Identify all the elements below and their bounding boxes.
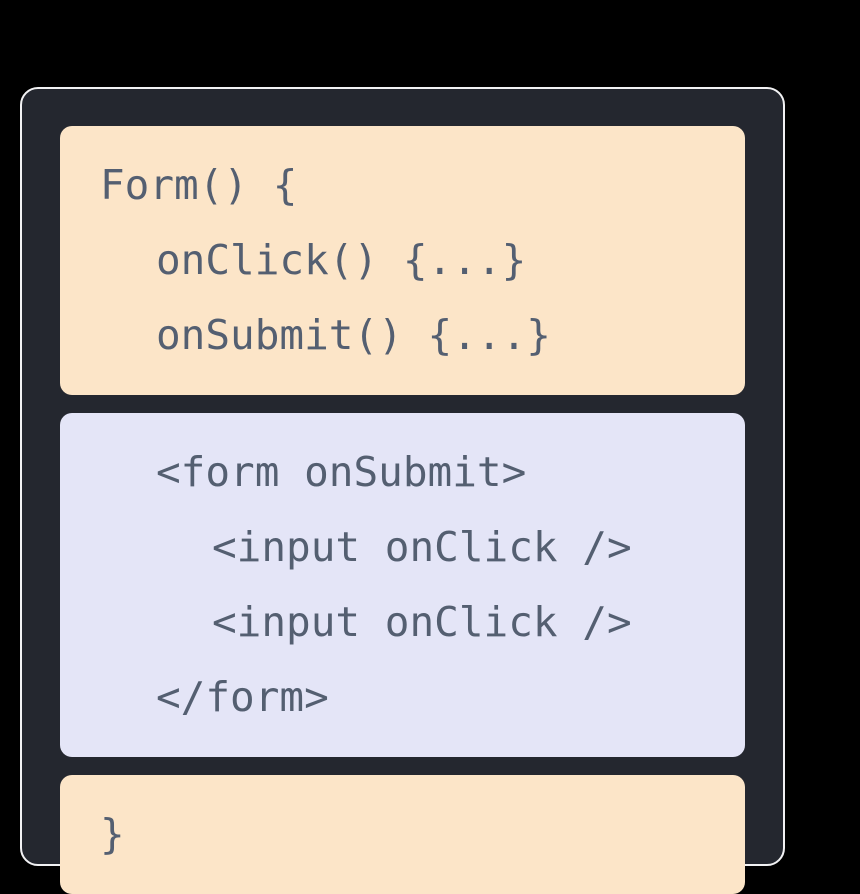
code-line: onClick() {...}: [60, 223, 745, 298]
code-line: }: [60, 797, 745, 872]
screenshot-stage: Form() { onClick() {...} onSubmit() {...…: [0, 0, 860, 874]
code-line: <form onSubmit>: [60, 435, 745, 510]
code-panel-component-body-close: }: [60, 775, 745, 894]
code-line: <input onClick />: [60, 585, 745, 660]
code-line: </form>: [60, 660, 745, 735]
code-line: onSubmit() {...}: [60, 298, 745, 373]
code-panel-jsx-markup: <form onSubmit> <input onClick /> <input…: [60, 413, 745, 757]
code-line: <input onClick />: [60, 510, 745, 585]
code-line: Form() {: [60, 148, 745, 223]
form-component-code-card: Form() { onClick() {...} onSubmit() {...…: [20, 87, 785, 866]
code-panel-component-body-top: Form() { onClick() {...} onSubmit() {...…: [60, 126, 745, 395]
